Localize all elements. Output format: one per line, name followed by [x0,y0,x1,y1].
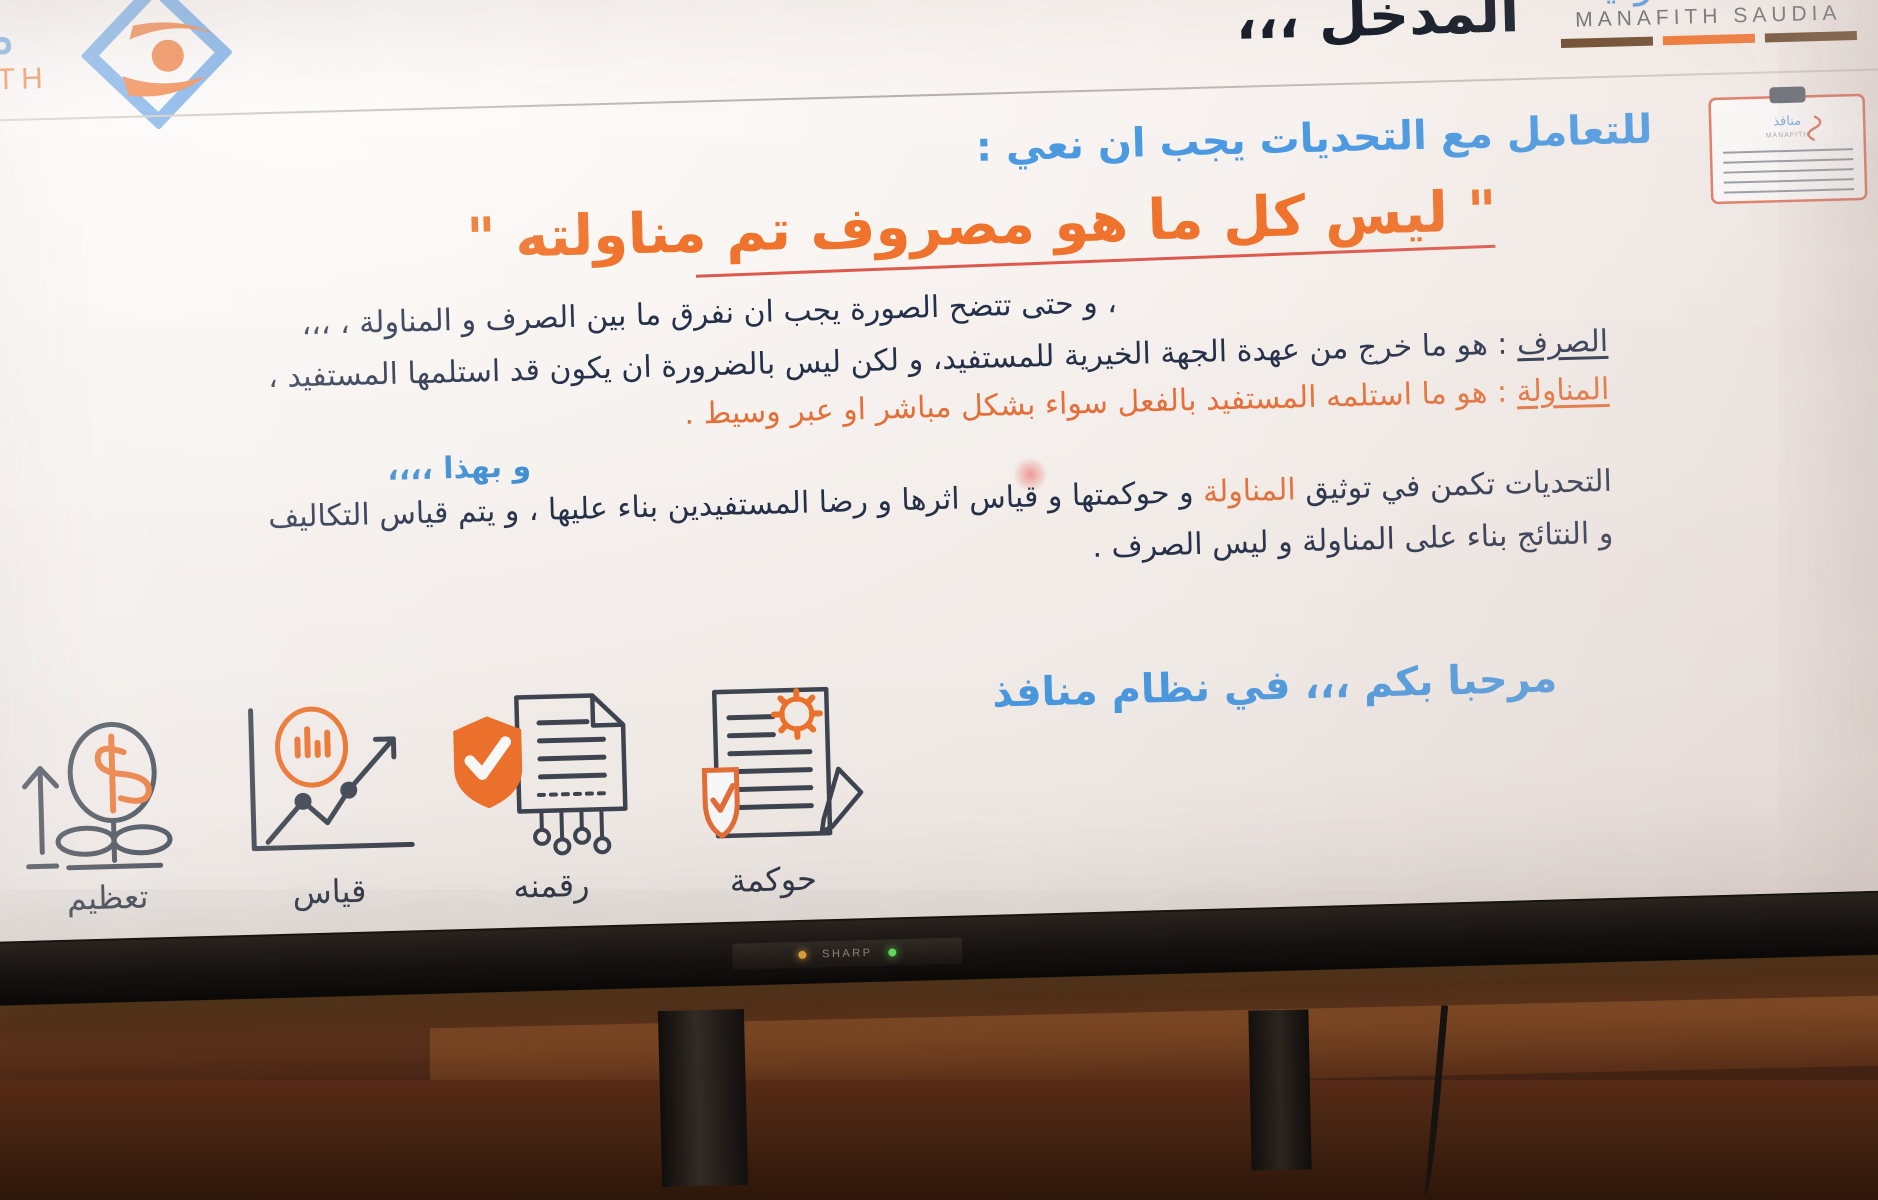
definition-munawala-separator: : [1487,374,1517,410]
definition-sarf-separator: : [1487,326,1517,362]
display-monitor: SHARP منافذ السعودية MANAFITH SAUDIA [0,0,1878,1052]
icon-item-taazim: تعظيم [0,698,217,920]
logo-left-arabic: منافذ [0,3,16,69]
icon-row: تعظيم [0,645,899,919]
icon-label-taazim: تعظيم [0,876,217,920]
icon-item-qiyas: قياس [215,692,439,914]
challenges-highlight: المناولة [1203,472,1297,509]
definition-munawala-text: هو ما استلمه المستفيد بالفعل سواء بشكل م… [684,375,1488,432]
governance-document-icon [668,680,873,857]
monitor-stand-right [1248,1009,1311,1170]
logo-bar-decoration [1544,31,1874,49]
icon-item-hawkama: حوكمة [659,680,883,902]
results-line: و النتائج بناء على المناولة و ليس الصرف … [1092,516,1614,565]
icon-label-raqmana: رقمنه [442,864,661,908]
manafith-saudia-logo: منافذ السعودية MANAFITH SAUDIA [1542,0,1875,69]
connector-line: و بهذا ،،،، [387,449,532,488]
icon-label-qiyas: قياس [220,870,439,914]
challenges-part1: التحديات تكمن في توثيق [1295,464,1612,508]
logo-left-latin: ANAFITH [0,62,49,101]
definition-munawala: المناولة : هو ما استلمه المستفيد بالفعل … [684,372,1610,432]
page-title: المدخل ،،، [1235,0,1520,53]
monitor-stand-left [658,1009,748,1187]
desk-front-panel [0,1080,1878,1200]
intro-line: للتعامل مع التحديات يجب ان نعي : [975,107,1653,171]
subline: ، و حتى تتضح الصورة يجب ان نفرق ما بين ا… [301,285,1117,342]
measure-chart-icon [224,692,429,869]
screen-surface: منافذ السعودية MANAFITH SAUDIA المدخل ،،… [0,0,1878,942]
photo-scene: SHARP منافذ السعودية MANAFITH SAUDIA [0,0,1878,1200]
definition-sarf-term: الصرف [1516,324,1608,361]
icon-label-hawkama: حوكمة [664,858,883,902]
sharp-brand-label: SHARP [822,947,873,960]
power-led-green [888,948,896,956]
digitize-document-icon [446,686,651,863]
presentation-slide: منافذ السعودية MANAFITH SAUDIA المدخل ،،… [0,0,1878,942]
power-led-amber [798,951,806,959]
definition-munawala-term: المناولة [1516,372,1610,409]
icon-item-raqmana: رقمنه [437,686,661,908]
growth-dollar-icon [2,698,207,875]
manafith-diamond-icon [80,0,234,131]
clipboard-icon: منافذ MANAFITH [1695,82,1878,207]
headline-quote: " ليس كل ما هو مصروف تم مناولته " [466,179,1498,272]
welcome-line: مرحبا بكم ،،، في نظام منافذ [992,655,1558,716]
svg-text:منافذ: منافذ [1773,114,1801,130]
svg-text:MANAFITH: MANAFITH [1766,131,1810,139]
manafith-logo-cropped: منافذ ANAFITH [0,0,307,122]
